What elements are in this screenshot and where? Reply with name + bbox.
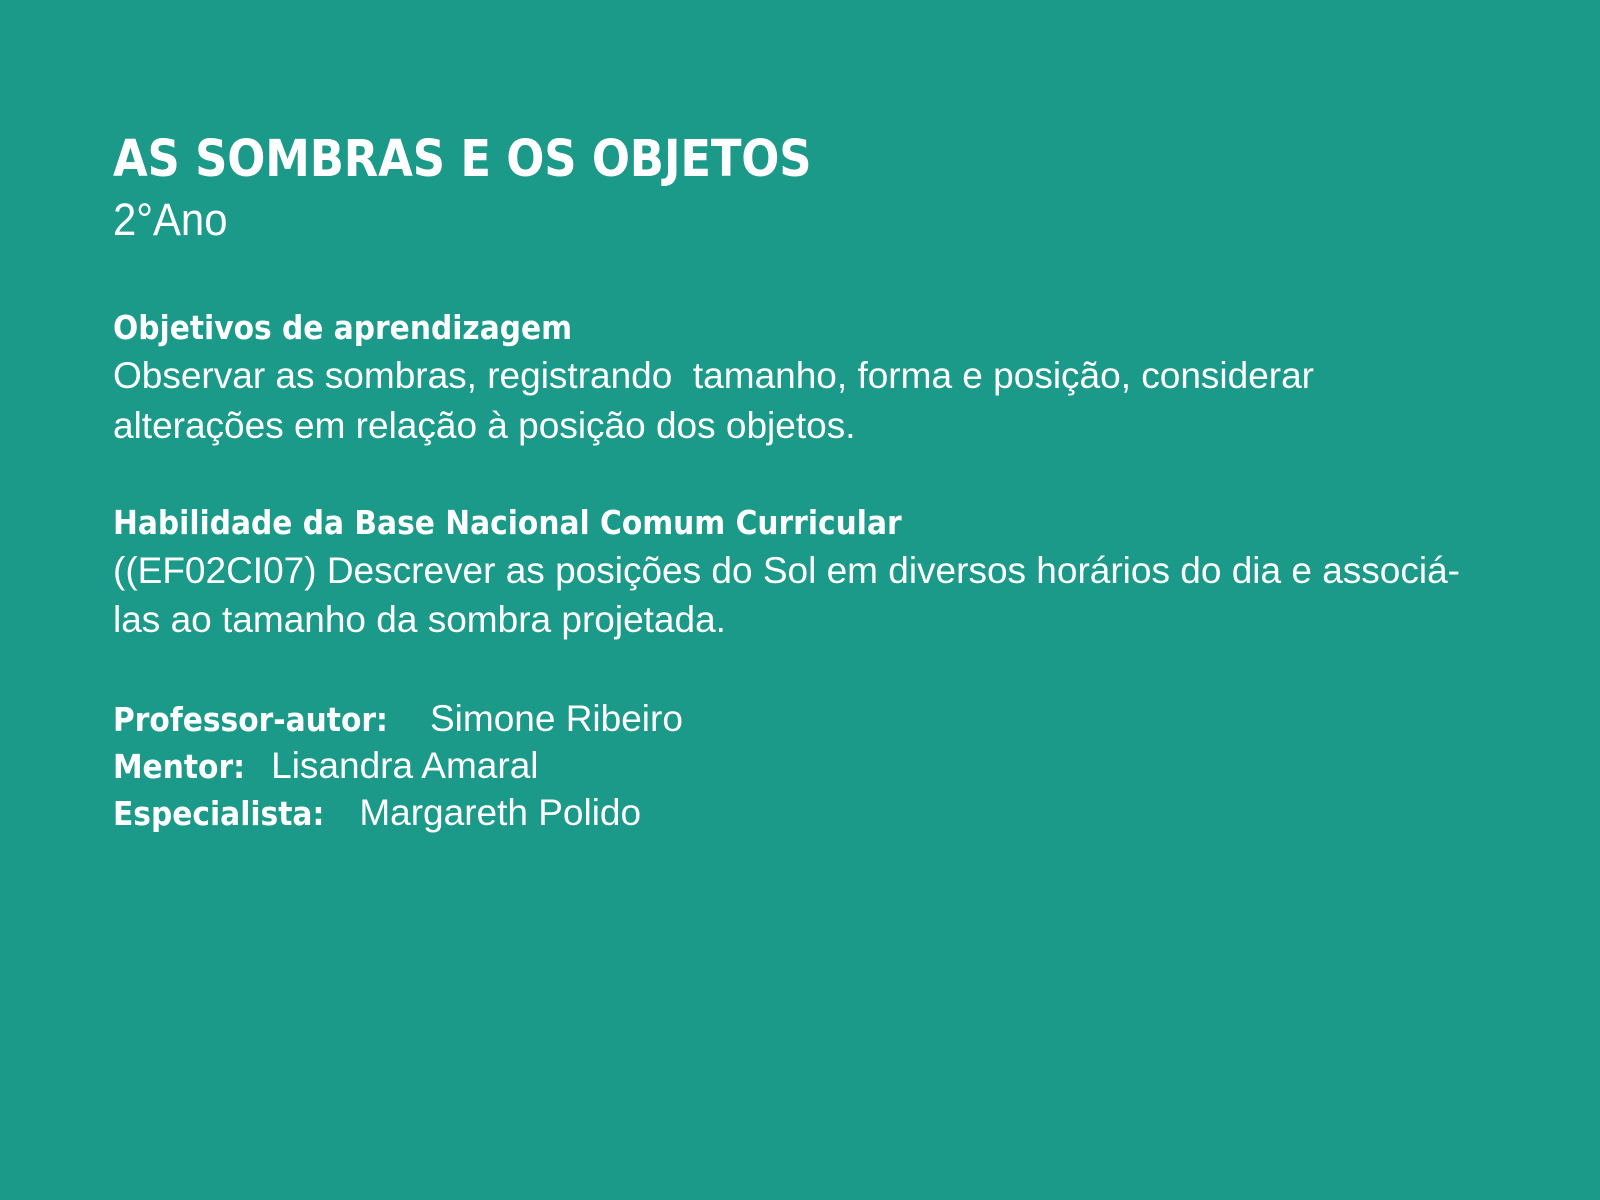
slide-content: AS SOMBRAS E OS OBJETOS 2°Ano Objetivos … [113,132,1513,836]
section-heading-objectives: Objetivos de aprendizagem [113,307,1373,349]
credit-person-name: Margareth Polido [359,792,641,833]
page-title: AS SOMBRAS E OS OBJETOS [113,132,1345,187]
section-heading-bncc: Habilidade da Base Nacional Comum Curric… [113,502,1373,544]
credits-block: Professor-autor: Simone Ribeiro Mentor: … [113,696,1513,836]
slide-root: AS SOMBRAS E OS OBJETOS 2°Ano Objetivos … [0,0,1600,1200]
credit-row-mentor: Mentor: Lisandra Amaral [113,743,1513,790]
credit-person-name: Lisandra Amaral [271,745,538,786]
credit-row-especialista: Especialista: Margareth Polido [113,790,1513,837]
credit-row-professor: Professor-autor: Simone Ribeiro [113,696,1513,743]
credit-person-name: Simone Ribeiro [430,698,683,739]
section-body-objectives: Observar as sombras, registrando tamanho… [113,351,1473,449]
section-bncc-skill: Habilidade da Base Nacional Comum Curric… [113,502,1513,645]
credit-role-label: Professor-autor: [113,699,398,741]
section-body-bncc: ((EF02CI07) Descrever as posições do Sol… [113,546,1473,644]
credit-role-label: Especialista: [113,793,335,835]
credit-role-label: Mentor: [113,746,255,788]
page-subtitle: 2°Ano [113,193,1415,247]
title-block: AS SOMBRAS E OS OBJETOS 2°Ano [113,132,1513,247]
section-learning-objectives: Objetivos de aprendizagem Observar as so… [113,307,1513,450]
